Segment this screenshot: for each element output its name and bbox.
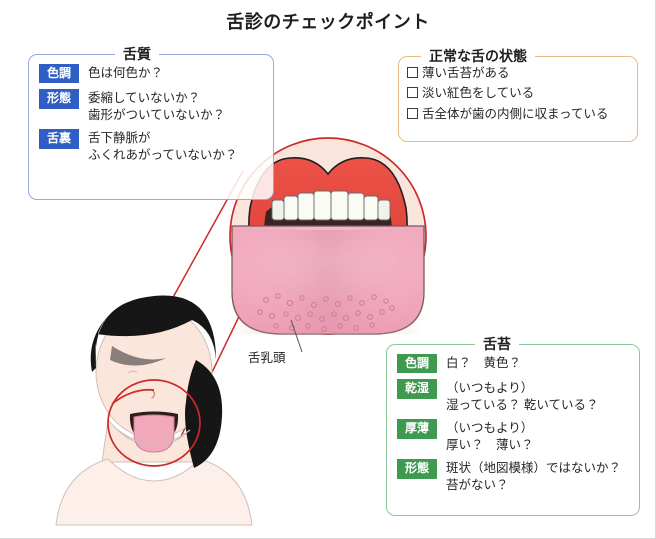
tongue-quality-row-text: 委縮していないか？ 歯形がついていないか？: [88, 89, 225, 123]
badge-tongue-underside: 舌裏: [39, 129, 79, 148]
tongue-diagnosis-infographic: 舌診のチェックポイント 舌質 色調 色は何色か？ 形態 委縮していないか？ 歯形…: [0, 0, 656, 539]
panel-normal-tongue-state-legend: 正常な舌の状態: [421, 46, 535, 66]
panel-tongue-quality-legend: 舌質: [115, 44, 159, 64]
checklist-item[interactable]: 舌全体が歯の内側に収まっている: [407, 106, 637, 123]
badge-moisture: 乾湿: [397, 379, 437, 398]
person-illustration: [56, 296, 252, 525]
papilla-label: 舌乳頭: [248, 347, 286, 366]
tongue-coating-row-text: （いつもより） 厚い？ 薄い？: [446, 419, 534, 453]
tongue-quality-row: 形態 委縮していないか？ 歯形がついていないか？: [39, 89, 273, 123]
panel-tongue-coating: 舌苔 色調 白？ 黄色？ 乾湿 （いつもより） 湿っている？ 乾いている？ 厚薄…: [386, 344, 640, 516]
checkbox-icon[interactable]: [407, 108, 418, 119]
papilla-leader-line: [291, 320, 302, 352]
checkbox-icon[interactable]: [407, 67, 418, 78]
panel-tongue-quality: 舌質 色調 色は何色か？ 形態 委縮していないか？ 歯形がついていないか？ 舌裏…: [28, 54, 274, 200]
tongue-quality-row: 色調 色は何色か？: [39, 64, 273, 83]
badge-form: 形態: [397, 459, 437, 478]
tongue-coating-row: 乾湿 （いつもより） 湿っている？ 乾いている？: [397, 379, 639, 413]
page-title: 舌診のチェックポイント: [0, 8, 656, 34]
tongue-coating-row-text: 斑状（地図模様）ではないか？ 苔がない？: [446, 459, 621, 493]
panel-normal-tongue-state: 正常な舌の状態 薄い舌苔がある 淡い紅色をしている 舌全体が歯の内側に収まってい…: [398, 56, 638, 142]
tongue-coating-row: 色調 白？ 黄色？: [397, 354, 639, 373]
badge-thickness: 厚薄: [397, 419, 437, 438]
tongue-coating-row: 形態 斑状（地図模様）ではないか？ 苔がない？: [397, 459, 639, 493]
checklist-item-label: 薄い舌苔がある: [422, 66, 510, 80]
tongue-coating-row: 厚薄 （いつもより） 厚い？ 薄い？: [397, 419, 639, 453]
papillae-dots: [258, 294, 394, 332]
badge-color-tone: 色調: [39, 64, 79, 83]
tongue-quality-row: 舌裏 舌下静脈が ふくれあがっていないか？: [39, 129, 273, 163]
panel-tongue-coating-legend: 舌苔: [475, 334, 519, 354]
tongue-coating-row-text: （いつもより） 湿っている？ 乾いている？: [446, 379, 598, 413]
tongue-quality-row-text: 舌下静脈が ふくれあがっていないか？: [88, 129, 237, 163]
badge-color-tone: 色調: [397, 354, 437, 373]
checklist-item[interactable]: 薄い舌苔がある: [407, 65, 637, 82]
checklist-item-label: 淡い紅色をしている: [422, 86, 534, 100]
checkbox-icon[interactable]: [407, 87, 418, 98]
teeth: [272, 191, 390, 220]
badge-form: 形態: [39, 89, 79, 108]
checklist-item[interactable]: 淡い紅色をしている: [407, 85, 637, 102]
checklist-item-label: 舌全体が歯の内側に収まっている: [422, 107, 608, 121]
magnifier-connector-lines: [140, 171, 247, 455]
tongue-quality-row-text: 色は何色か？: [88, 64, 163, 82]
tongue-coating-row-text: 白？ 黄色？: [446, 354, 521, 372]
